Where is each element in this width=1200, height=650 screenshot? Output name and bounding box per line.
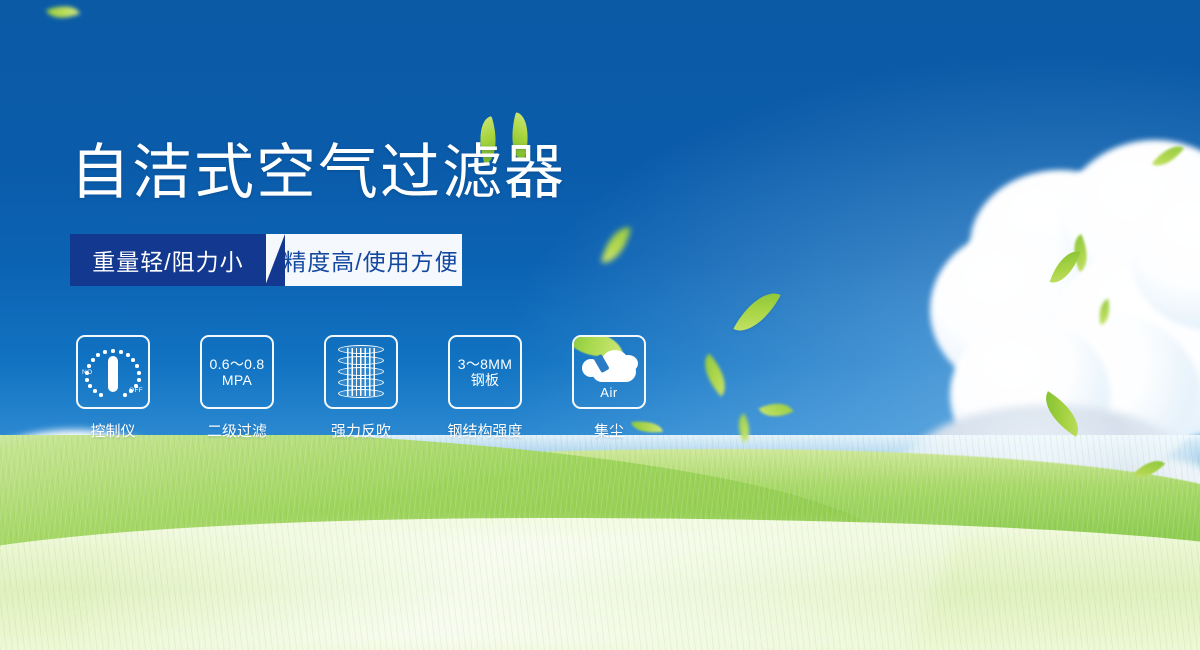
gauge-mark-no: NO bbox=[82, 369, 92, 376]
pressure-text-icon: 0.6～0.8 MPA bbox=[209, 356, 264, 388]
subtitle-left-block: 重量轻/阻力小 bbox=[70, 234, 266, 286]
steel-plate-text-icon: 3～8MM 钢板 bbox=[458, 356, 512, 388]
feature-item-filtration[interactable]: 0.6～0.8 MPA 二级过滤 bbox=[200, 335, 274, 441]
feature-label: 集尘 bbox=[594, 420, 624, 441]
air-label: Air bbox=[576, 385, 642, 400]
feature-icon-box bbox=[324, 335, 398, 409]
page-title: 自洁式空气过滤器 bbox=[70, 143, 566, 203]
feature-icon-box: Air bbox=[572, 335, 646, 409]
pressure-line-2: MPA bbox=[209, 372, 264, 388]
feature-icon-box: NO OFF bbox=[76, 335, 150, 409]
banner-content: 自洁式空气过滤器 重量轻/阻力小 精度高/使用方便 bbox=[0, 0, 1200, 650]
steel-line-2: 钢板 bbox=[458, 372, 512, 388]
feature-icon-box: 3～8MM 钢板 bbox=[448, 335, 522, 409]
filter-stack-icon bbox=[338, 344, 384, 400]
feature-list: NO OFF 控制仪 0.6～0.8 MPA 二级过滤 bbox=[76, 335, 646, 441]
product-banner: 自洁式空气过滤器 重量轻/阻力小 精度高/使用方便 bbox=[0, 0, 1200, 650]
subtitle-right-text: 精度高/使用方便 bbox=[283, 243, 458, 277]
feature-icon-box: 0.6～0.8 MPA bbox=[200, 335, 274, 409]
subtitle-right-block: 精度高/使用方便 bbox=[266, 234, 462, 286]
pressure-line-1: 0.6～0.8 bbox=[209, 356, 264, 372]
subtitle-bar: 重量轻/阻力小 精度高/使用方便 bbox=[70, 234, 462, 286]
feature-item-controller[interactable]: NO OFF 控制仪 bbox=[76, 335, 150, 441]
feature-label: 二级过滤 bbox=[207, 420, 267, 441]
feature-item-dust[interactable]: Air 集尘 bbox=[572, 335, 646, 441]
air-cloud-icon: Air bbox=[576, 342, 642, 402]
feature-label: 控制仪 bbox=[90, 420, 135, 441]
feature-label: 钢结构强度 bbox=[448, 420, 523, 441]
feature-label: 强力反吹 bbox=[331, 420, 391, 441]
subtitle-left-text: 重量轻/阻力小 bbox=[92, 243, 243, 277]
gauge-mark-off: OFF bbox=[129, 387, 143, 394]
feature-item-backblow[interactable]: 强力反吹 bbox=[324, 335, 398, 441]
gauge-icon: NO OFF bbox=[82, 342, 144, 402]
steel-line-1: 3～8MM bbox=[458, 356, 512, 372]
feature-item-steel[interactable]: 3～8MM 钢板 钢结构强度 bbox=[448, 335, 522, 441]
